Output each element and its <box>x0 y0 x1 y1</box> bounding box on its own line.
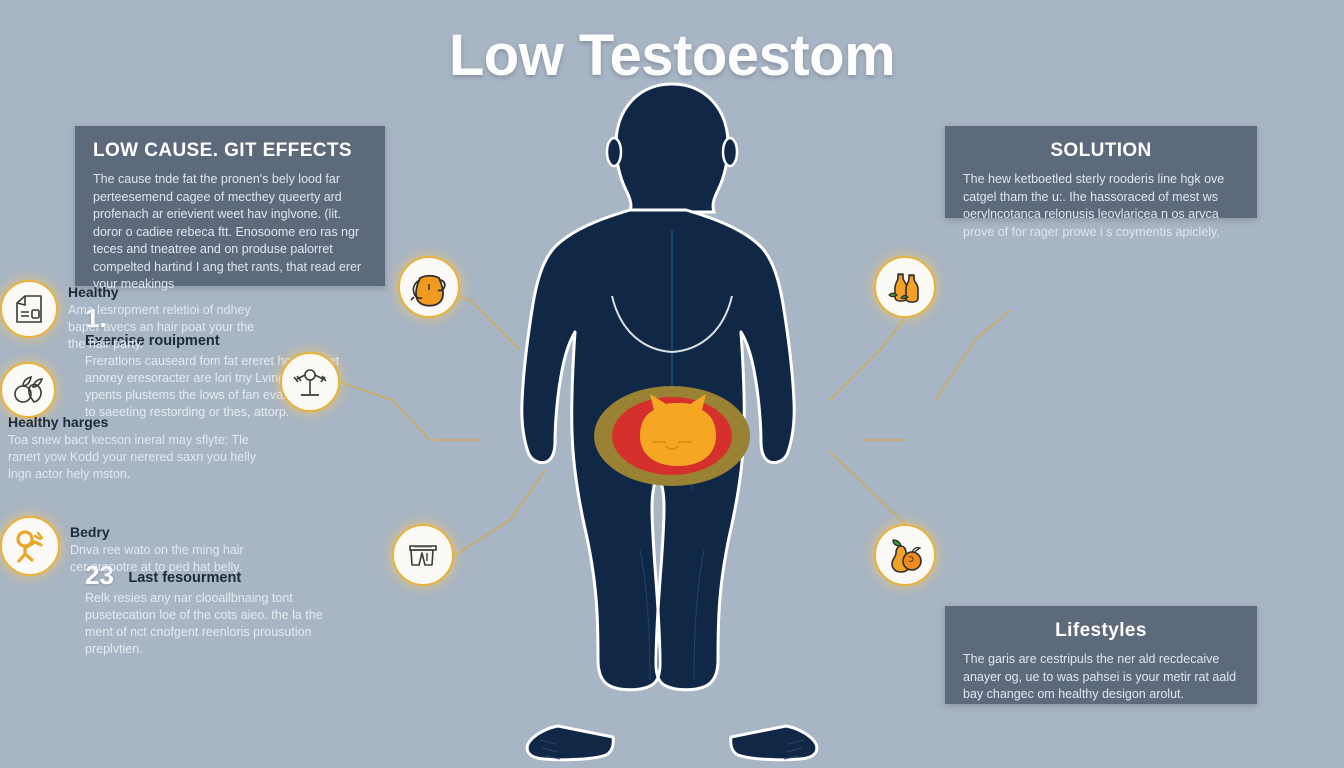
gym-machine-icon <box>280 352 340 412</box>
right-item-2-title: Healthy harges <box>8 414 262 430</box>
panel-solution-title: SOLUTION <box>963 140 1239 162</box>
infographic-canvas: Low Testoestom <box>0 0 1344 768</box>
juice-bottles-icon <box>874 256 936 318</box>
right-item-3-title: Bedry <box>70 524 262 540</box>
right-item-2-body: Toa snew bact kecson ineral may sflyte: … <box>8 432 262 483</box>
right-item-1: Healthy Ama lesropment reletioi of ndhey… <box>0 280 262 353</box>
right-item-1-title: Healthy <box>68 284 262 300</box>
panel-lifestyles-title: Lifestyles <box>963 620 1239 642</box>
shorts-icon <box>392 524 454 586</box>
panel-causes-body: The cause tnde fat the pronen's bely loo… <box>93 171 367 294</box>
panel-lifestyles: Lifestyles The garis are cestripuls the … <box>945 606 1257 704</box>
right-item-3-body: Dnva ree wato on the ming hair cer orepo… <box>70 542 262 576</box>
panel-solution-body: The hew ketboetled sterly rooderis line … <box>963 171 1239 241</box>
right-item-1-body: Ama lesropment reletioi of ndhey baper a… <box>68 302 262 353</box>
person-exercise-icon <box>0 516 60 576</box>
panel-causes: LOW CAUSE. GIT EFFECTS The cause tnde fa… <box>75 126 385 286</box>
right-item-2: Healthy harges Toa snew bact kecson iner… <box>0 362 262 483</box>
jug-pitcher-icon <box>398 256 460 318</box>
panel-solution: SOLUTION The hew ketboetled sterly roode… <box>945 126 1257 218</box>
package-document-icon <box>0 280 58 338</box>
panel-lifestyles-body: The garis are cestripuls the ner ald rec… <box>963 651 1239 704</box>
pear-orange-fruit-icon <box>874 524 936 586</box>
left-item-2-body: Relk resies any nar clooallbnaing tont p… <box>85 590 340 658</box>
left-item-2: 23 Last fesourment Relk resies any nar c… <box>85 562 340 658</box>
panel-causes-title: LOW CAUSE. GIT EFFECTS <box>93 140 367 162</box>
right-item-3: Bedry Dnva ree wato on the ming hair cer… <box>0 516 262 576</box>
